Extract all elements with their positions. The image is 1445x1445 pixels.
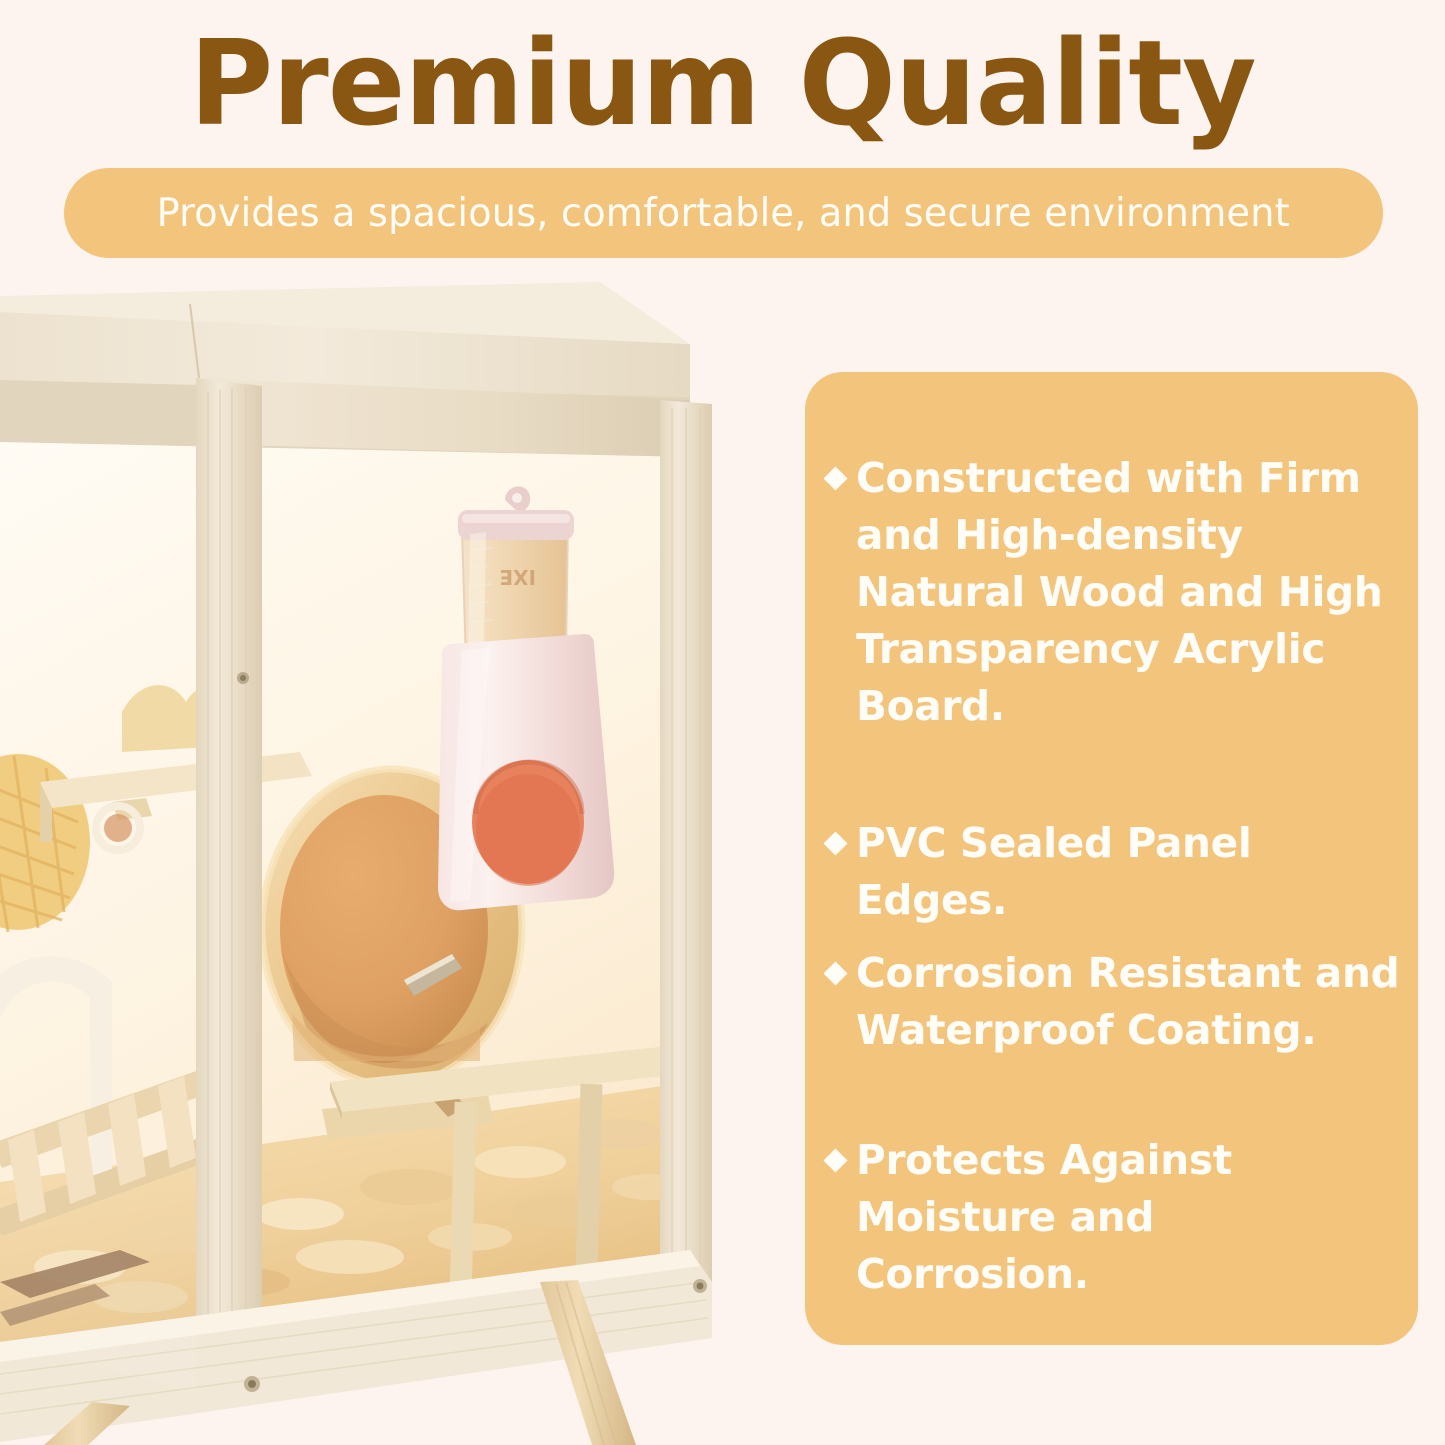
subtitle-banner: Provides a spacious, comfortable, and se…	[64, 168, 1383, 258]
diamond-bullet-icon	[823, 1148, 847, 1172]
hamster-cage-illustration: IXE	[0, 282, 762, 1445]
diamond-bullet-icon	[823, 961, 847, 985]
feature-text: Protects Against Moisture and Corrosion.	[856, 1132, 1400, 1303]
product-photo: IXE	[0, 282, 762, 1445]
diamond-bullet-icon	[823, 466, 847, 490]
features-panel: Constructed with Firm and High-density N…	[805, 372, 1418, 1345]
bottle-label-text: IXE	[499, 565, 536, 589]
feature-text: Constructed with Firm and High-density N…	[856, 450, 1400, 735]
feature-text: Corrosion Resistant and Waterproof Coati…	[856, 945, 1400, 1059]
infographic-page: Premium Quality Provides a spacious, com…	[0, 0, 1445, 1445]
feature-text: PVC Sealed Panel Edges.	[856, 815, 1400, 929]
page-title: Premium Quality	[22, 22, 1424, 146]
feature-item: Constructed with Firm and High-density N…	[827, 450, 1405, 735]
feature-item: Protects Against Moisture and Corrosion.	[827, 1132, 1405, 1303]
diamond-bullet-icon	[823, 831, 847, 855]
feature-item: PVC Sealed Panel Edges.	[827, 815, 1405, 929]
subtitle-text: Provides a spacious, comfortable, and se…	[157, 191, 1290, 236]
feature-item: Corrosion Resistant and Waterproof Coati…	[827, 945, 1405, 1059]
